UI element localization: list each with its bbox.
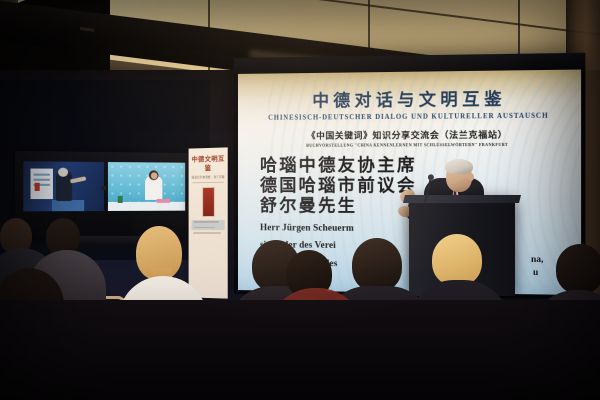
floor	[0, 300, 600, 400]
water-bottle	[118, 196, 123, 203]
banner-text-line	[193, 232, 220, 234]
conference-hall-photo: 中德对话与文明互鉴 CHINESISCH-DEUTSCHER DIALOG UN…	[0, 0, 600, 400]
remote-desk	[52, 200, 84, 211]
banner-subtitle: 知识分享交流会 · 法兰克福	[189, 175, 228, 180]
speaker-hair	[445, 159, 473, 174]
remote-speaker-head	[58, 168, 68, 177]
podium	[409, 200, 515, 296]
speaker-ear	[468, 173, 474, 181]
video-feed-right	[108, 162, 185, 211]
remote-participant-desk	[108, 202, 185, 211]
flipchart-marker	[35, 183, 40, 191]
banner-title: 中德文明互鉴	[189, 153, 228, 172]
monitor-stand	[56, 236, 140, 246]
conference-camera	[101, 186, 106, 190]
video-conference-monitor-unit	[15, 151, 189, 239]
banner-divider	[192, 182, 223, 184]
slide-text-fragment-right-2: u	[533, 268, 538, 278]
banner-book-cover	[202, 187, 215, 217]
ceiling-vent	[80, 27, 94, 32]
slide-text-fragment-right-1: na,	[531, 255, 543, 265]
desk-item	[157, 199, 170, 203]
remote-participant-face	[150, 172, 157, 179]
podium-surface	[403, 195, 521, 203]
video-feed-left	[23, 161, 104, 211]
rollup-banner: 中德文明互鉴 知识分享交流会 · 法兰克福	[189, 147, 228, 298]
banner-image-block	[191, 220, 224, 230]
